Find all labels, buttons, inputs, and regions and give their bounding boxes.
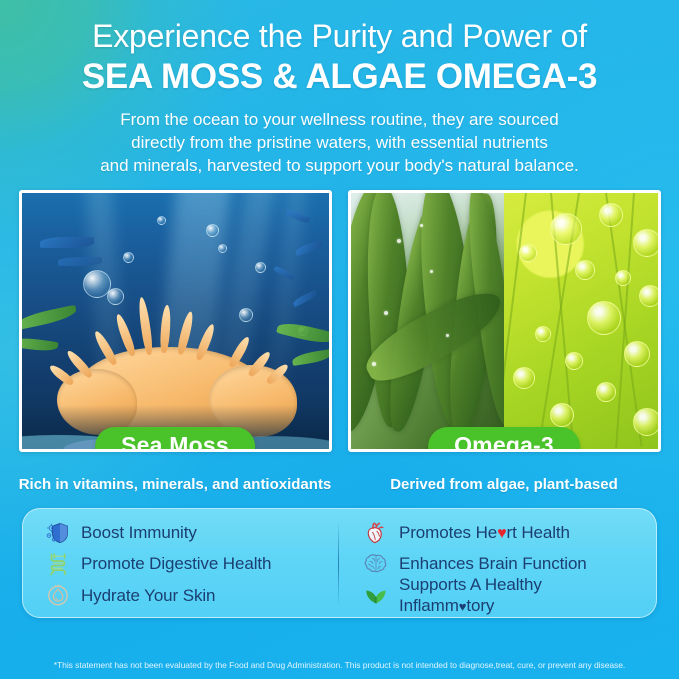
subheadline: From the ocean to your wellness routine,… xyxy=(40,108,640,177)
benefit-promote-digestive-health: Promote Digestive Health xyxy=(45,548,338,579)
benefit-label: Promote Digestive Health xyxy=(81,554,271,573)
poster-root: Experience the Purity and Power of SEA M… xyxy=(0,0,679,679)
sea-moss-photo-card: Sea Moss xyxy=(19,190,332,452)
benefit-promotes-heart-health: Promotes He♥rt Health xyxy=(363,517,656,548)
omega3-badge: Omega-3 xyxy=(428,427,580,452)
subheadline-line-1: From the ocean to your wellness routine,… xyxy=(40,108,640,131)
sea-moss-caption: Rich in vitamins, minerals, and antioxid… xyxy=(19,476,332,494)
benefits-column-left: Boost Immunity xyxy=(23,517,338,611)
benefit-label: Supports A Healthy Inflamm♥tory xyxy=(399,574,589,617)
headline-line-2: SEA MOSS & ALGAE OMEGA-3 xyxy=(16,56,663,98)
benefit-label: Promotes He♥rt Health xyxy=(399,523,570,543)
intestines-icon xyxy=(45,551,71,577)
product-photo-row: Sea Moss xyxy=(0,190,679,452)
shield-virus-icon xyxy=(45,520,71,546)
benefit-supports-healthy-inflammatory: Supports A Healthy Inflamm♥tory xyxy=(363,579,656,611)
benefit-label-after: tory xyxy=(466,596,494,615)
benefit-boost-immunity: Boost Immunity xyxy=(45,517,338,548)
underwater-scene-image xyxy=(22,193,329,449)
brain-icon xyxy=(363,551,389,577)
benefit-label: Boost Immunity xyxy=(81,523,197,542)
headline-line-1: Experience the Purity and Power of xyxy=(16,18,663,55)
subheadline-line-2: directly from the pristine waters, with … xyxy=(40,131,640,154)
leaf-icon xyxy=(363,582,389,608)
anatomical-heart-icon xyxy=(363,520,389,546)
benefit-label: Hydrate Your Skin xyxy=(81,586,215,605)
benefit-hydrate-your-skin: Hydrate Your Skin xyxy=(45,580,338,611)
green-algae-image-half xyxy=(504,193,658,449)
heart-glyph-icon: ♥ xyxy=(497,525,506,542)
omega3-photo-card: Omega-3 xyxy=(348,190,661,452)
benefits-column-right: Promotes He♥rt Health xyxy=(339,517,656,611)
benefit-label-before: Promotes He xyxy=(399,523,497,542)
benefits-panel: Boost Immunity xyxy=(22,508,657,618)
benefit-label: Enhances Brain Function xyxy=(399,554,587,573)
water-drop-icon xyxy=(45,582,71,608)
kelp-image-half xyxy=(351,193,505,449)
caption-row: Rich in vitamins, minerals, and antioxid… xyxy=(0,476,679,494)
subheadline-line-3: and minerals, harvested to support your … xyxy=(40,154,640,177)
sea-moss-badge: Sea Moss xyxy=(95,427,255,452)
algae-scene-image xyxy=(351,193,658,449)
omega3-caption: Derived from algae, plant-based xyxy=(348,476,661,494)
header: Experience the Purity and Power of SEA M… xyxy=(0,0,679,177)
fda-disclaimer: *This statement has not been evaluated b… xyxy=(0,660,679,671)
benefit-label-after: rt Health xyxy=(507,523,570,542)
